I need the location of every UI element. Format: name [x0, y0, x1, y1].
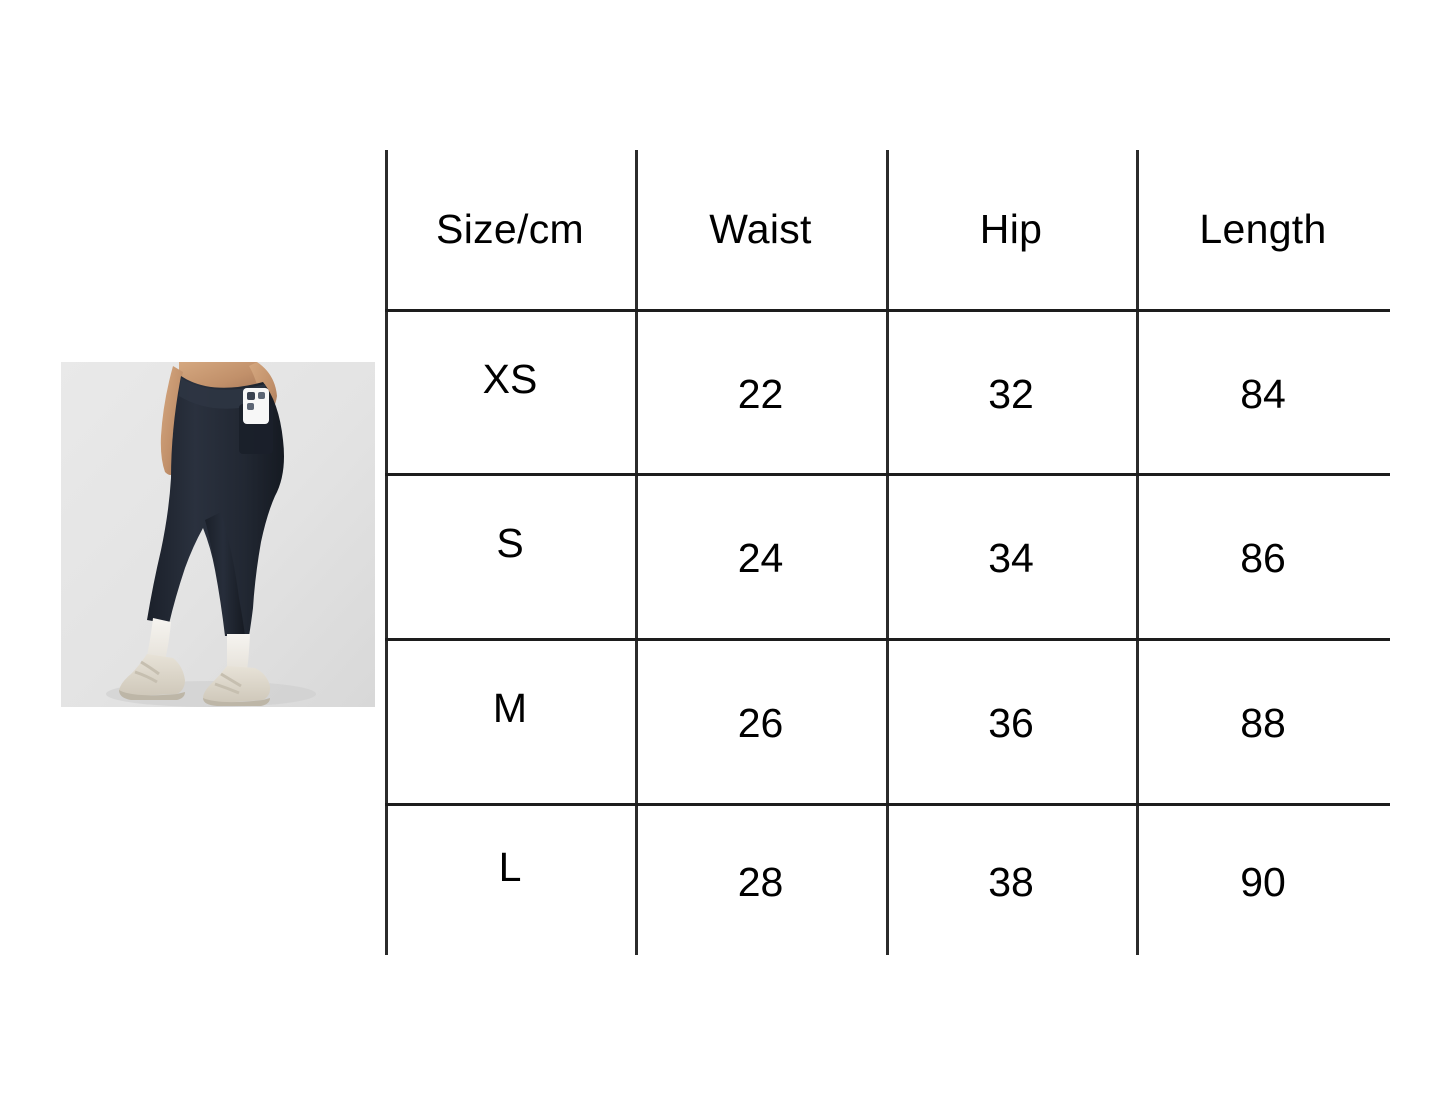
size-chart-page: Size/cm Waist Hip Length XS 22 32 84 S 2…: [0, 0, 1445, 1105]
table-cell-waist: 24: [635, 473, 886, 638]
column-header-hip-label: Hip: [980, 206, 1042, 253]
cell-waist-value: 24: [738, 535, 784, 582]
table-cell-length: 88: [1136, 638, 1390, 803]
cell-waist-value: 26: [738, 700, 784, 747]
product-photo-illustration: [61, 362, 375, 707]
table-row: M: [385, 638, 635, 803]
column-header-waist: Waist: [635, 150, 886, 309]
product-photo: [61, 362, 375, 707]
cell-hip-value: 34: [988, 535, 1034, 582]
table-cell-waist: 22: [635, 309, 886, 473]
column-header-waist-label: Waist: [709, 206, 811, 253]
table-cell-hip: 38: [886, 803, 1136, 955]
cell-size: L: [499, 844, 522, 891]
cell-length-value: 90: [1240, 859, 1286, 906]
table-row: L: [385, 803, 635, 955]
table-row: XS: [385, 309, 635, 473]
cell-hip-value: 32: [988, 371, 1034, 418]
column-header-length: Length: [1136, 150, 1390, 309]
table-cell-hip: 32: [886, 309, 1136, 473]
cell-length-value: 86: [1240, 535, 1286, 582]
size-chart-table: Size/cm Waist Hip Length XS 22 32 84 S 2…: [385, 150, 1390, 955]
table-cell-length: 90: [1136, 803, 1390, 955]
table-cell-length: 86: [1136, 473, 1390, 638]
column-header-size: Size/cm: [385, 150, 635, 309]
table-cell-hip: 34: [886, 473, 1136, 638]
table-cell-hip: 36: [886, 638, 1136, 803]
cell-size: XS: [483, 356, 538, 403]
cell-waist-value: 28: [738, 859, 784, 906]
cell-size: S: [496, 520, 523, 567]
column-header-size-label: Size/cm: [436, 206, 584, 253]
table-cell-length: 84: [1136, 309, 1390, 473]
cell-hip-value: 36: [988, 700, 1034, 747]
cell-length-value: 88: [1240, 700, 1286, 747]
column-header-hip: Hip: [886, 150, 1136, 309]
cell-size: M: [493, 685, 527, 732]
column-header-length-label: Length: [1199, 206, 1326, 253]
table-cell-waist: 26: [635, 638, 886, 803]
cell-length-value: 84: [1240, 371, 1286, 418]
table-row: S: [385, 473, 635, 638]
cell-hip-value: 38: [988, 859, 1034, 906]
cell-waist-value: 22: [738, 371, 784, 418]
table-cell-waist: 28: [635, 803, 886, 955]
